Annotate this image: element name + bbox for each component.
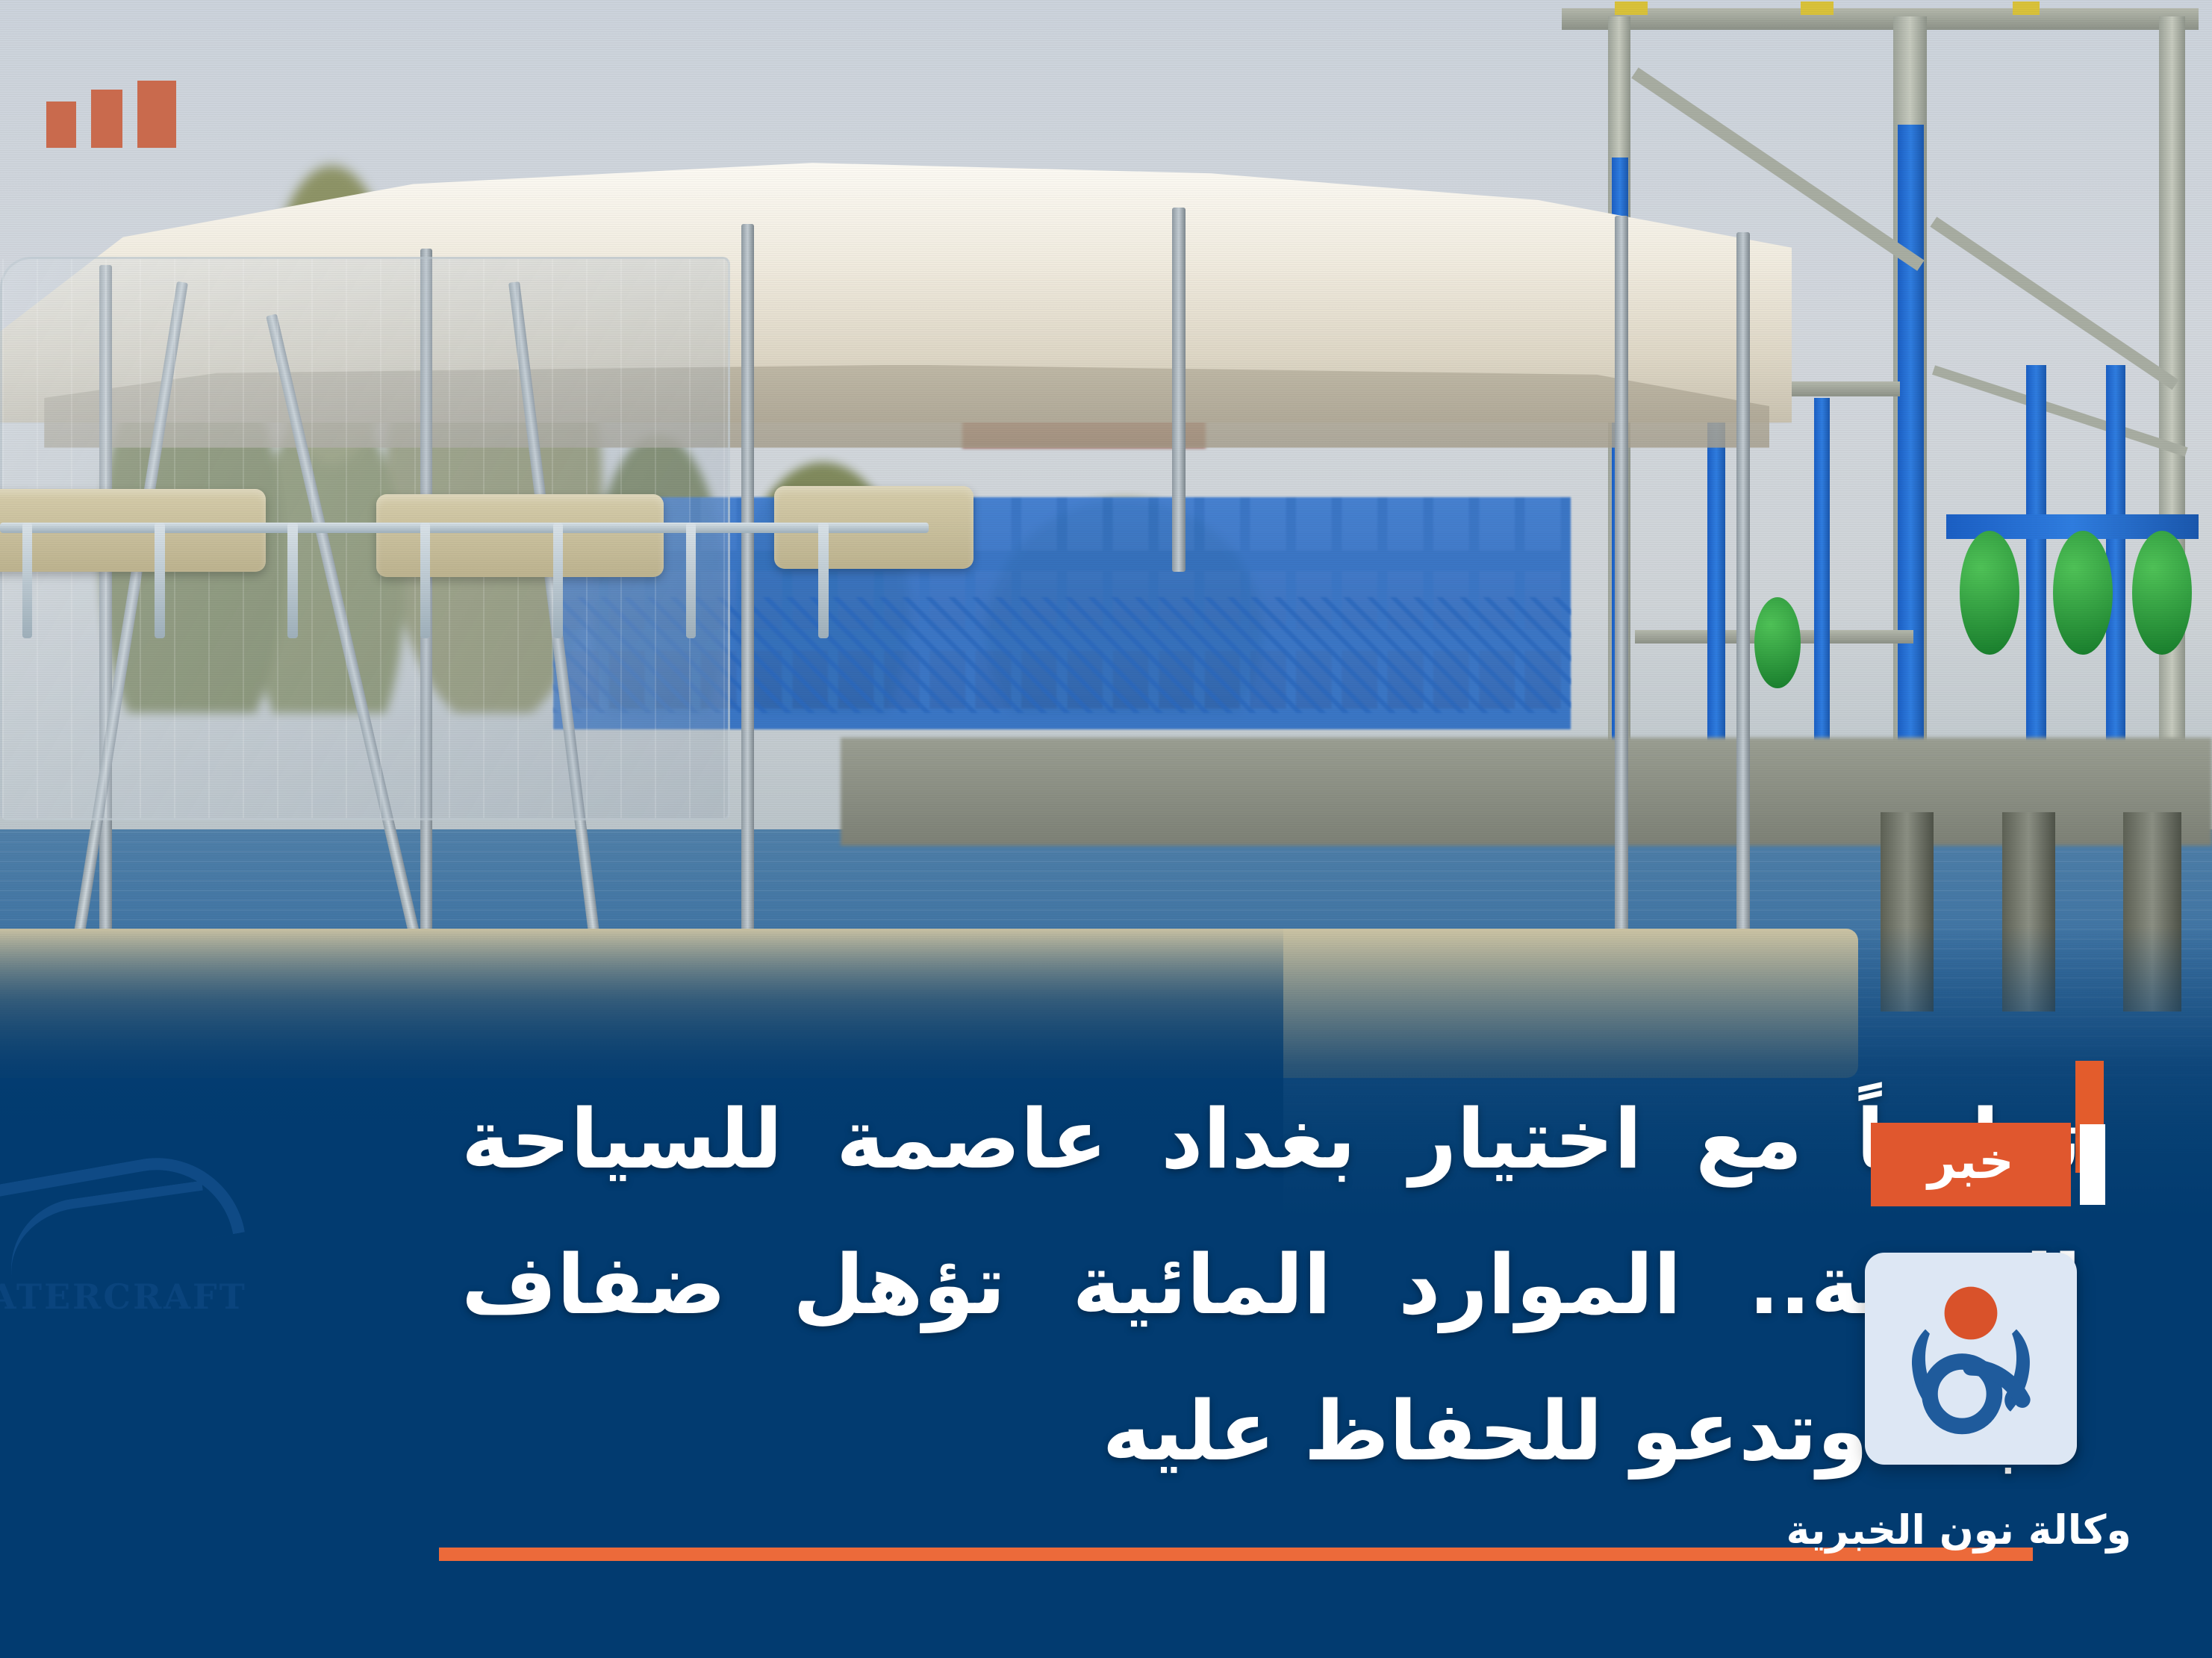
canopy-post-4 [1172,208,1186,573]
bar-3 [46,102,76,148]
three-bars-icon [46,81,176,148]
bar-2 [91,90,122,148]
white-tick-bar-icon [2080,1124,2105,1205]
bar-1 [137,81,176,148]
boat-rail-post-4 [420,523,430,638]
green-valve-c [2132,531,2192,655]
boat-rail-top [0,523,929,533]
brand-column: خبر وكالة نون الخبرية [1810,1123,2131,1553]
gantry-top-beam [1562,8,2199,30]
gantry-column-mid-blue [1898,125,1925,829]
canopy-post-3 [741,224,755,1020]
orange-circle-icon [1945,1287,1998,1340]
gantry-marker-c [2013,1,2040,15]
boat-rail-post-2 [155,523,164,638]
agency-name: وكالة نون الخبرية [1810,1506,2131,1553]
boat-rail-post-7 [818,523,828,638]
boat-seat-mid [376,494,664,577]
news-card: WATERCRAFT تزامناً مع اختيار بغداد عاصمة… [0,0,2212,1658]
boat-rail-post-6 [686,523,696,638]
gantry-marker-a [1615,1,1648,15]
news-badge-label: خبر [1928,1137,2014,1186]
gantry-marker-b [1801,1,1834,15]
canopy-post-5 [1615,216,1628,995]
gantry-brace-b [1930,216,2178,390]
gantry-brace-c [1932,365,2187,457]
green-valve-a [1960,531,2019,655]
boat-rail-post-5 [553,523,563,638]
green-valve-b [2053,531,2113,655]
canopy-post-6 [1736,232,1750,995]
green-pipe-elbow [1754,597,1801,688]
noon-agency-logo-icon [1865,1253,2077,1465]
boat-rail-post-1 [22,523,32,638]
boat-rail-post-3 [287,523,297,638]
news-badge: خبر [1871,1123,2071,1206]
gantry-column-right [2159,16,2186,829]
